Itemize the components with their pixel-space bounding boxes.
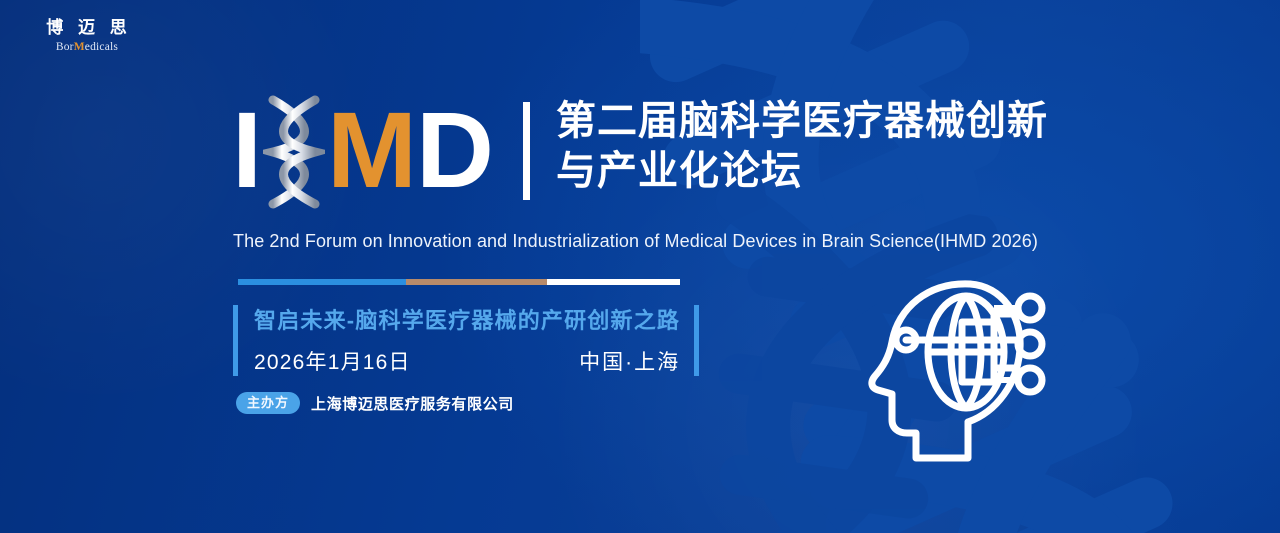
divider-segment-tan — [406, 279, 547, 285]
company-logo[interactable]: 博 迈 思 BorMedicals — [22, 18, 152, 53]
slogan-block: 智启未来-脑科学医疗器械的产研创新之路 2026年1月16日 中国·上海 — [233, 305, 685, 376]
acronym-letter-m: M — [327, 98, 416, 202]
logo-chinese-name: 博 迈 思 — [22, 18, 152, 38]
slogan-body: 智启未来-脑科学医疗器械的产研创新之路 2026年1月16日 中国·上海 — [238, 305, 694, 376]
slogan-bar-right — [694, 305, 699, 376]
acronym-ihmd: I — [232, 96, 493, 204]
logo-en-suffix: edicals — [85, 41, 118, 53]
tricolor-divider — [238, 279, 680, 285]
organiser-badge: 主办方 — [236, 392, 300, 414]
event-location: 中国·上海 — [579, 346, 680, 376]
logo-en-accent: M — [74, 41, 85, 53]
head-circuit-icon — [862, 272, 1058, 472]
logo-english-name: BorMedicals — [22, 41, 152, 53]
organiser-row: 主办方 上海博迈思医疗服务有限公司 — [236, 392, 514, 414]
dna-helix-icon — [263, 94, 325, 210]
acronym-letter-d: D — [416, 98, 493, 202]
event-meta-row: 2026年1月16日 中国·上海 — [254, 346, 680, 376]
title-lockup: I — [232, 96, 1048, 204]
slogan-text: 智启未来-脑科学医疗器械的产研创新之路 — [254, 305, 680, 337]
headline-line-2: 与产业化论坛 — [556, 146, 1048, 196]
english-subtitle: The 2nd Forum on Innovation and Industri… — [233, 231, 1038, 252]
logo-en-prefix: Bor — [56, 41, 74, 53]
node-top — [1018, 296, 1042, 320]
page-title: 第二届脑科学医疗器械创新 与产业化论坛 — [556, 96, 1048, 196]
event-date: 2026年1月16日 — [254, 346, 411, 376]
divider-segment-blue — [238, 279, 406, 285]
lockup-divider — [523, 102, 530, 200]
acronym-letter-i: I — [232, 98, 261, 202]
headline-line-1: 第二届脑科学医疗器械创新 — [556, 96, 1048, 146]
conference-banner: 博 迈 思 BorMedicals I — [0, 0, 1280, 533]
node-bottom — [1018, 368, 1042, 392]
divider-segment-white — [547, 279, 680, 285]
organiser-name: 上海博迈思医疗服务有限公司 — [311, 393, 514, 414]
